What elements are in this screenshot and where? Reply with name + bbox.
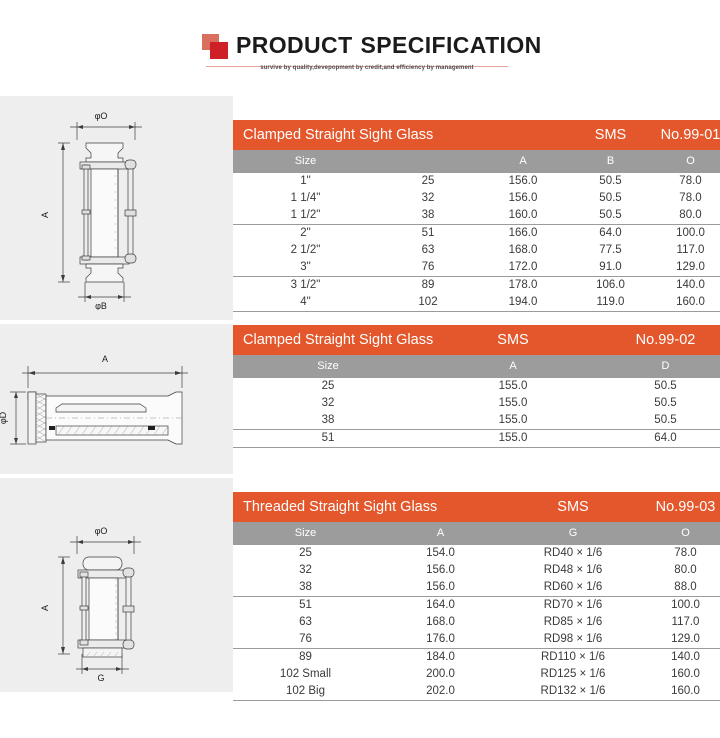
table-3-col-a: A: [378, 522, 503, 544]
cell-dn: 25: [378, 172, 478, 190]
cell-g: RD85 × 1/6: [503, 614, 643, 631]
table-row: 76 176.0 RD98 × 1/6 129.0: [233, 631, 720, 649]
cell-a: 164.0: [378, 596, 503, 614]
cell-o: 160.0: [643, 666, 720, 683]
table-row: 2 1/2" 63 168.0 77.5 117.0: [233, 242, 720, 259]
table-1-col-a: A: [478, 150, 568, 172]
cell-o: 88.0: [643, 579, 720, 597]
table-row: 3 1/2" 89 178.0 106.0 140.0: [233, 276, 720, 294]
table-row: 63 168.0 RD85 × 1/6 117.0: [233, 614, 720, 631]
table-1-standard: SMS: [568, 120, 653, 150]
cell-g: RD70 × 1/6: [503, 596, 643, 614]
cell-b: 106.0: [568, 276, 653, 294]
cell-dn: 89: [378, 276, 478, 294]
cell-size: 38: [233, 579, 378, 597]
cell-a: 194.0: [478, 294, 568, 312]
cell-a: 178.0: [478, 276, 568, 294]
dimension-label-left: φD: [0, 411, 8, 424]
cell-a: 156.0: [478, 172, 568, 190]
dimension-label-bottom: φB: [95, 301, 107, 310]
logo-square-dark: [210, 42, 228, 59]
cell-size: 1": [233, 172, 378, 190]
page-title-main: PRODUCT: [236, 32, 353, 58]
table-3-header-row: Size A G O: [233, 522, 720, 544]
cell-g: RD125 × 1/6: [503, 666, 643, 683]
cell-a: 156.0: [478, 190, 568, 207]
table-2-header-row: Size A D: [233, 355, 720, 377]
dimension-label-left: A: [40, 212, 50, 218]
table-3-col-o: O: [643, 522, 720, 544]
table-row: 51 164.0 RD70 × 1/6 100.0: [233, 596, 720, 614]
cell-b: 119.0: [568, 294, 653, 312]
cell-size: 3": [233, 259, 378, 277]
cell-d: 50.5: [603, 395, 720, 412]
cell-size: 38: [233, 412, 423, 430]
cell-o: 80.0: [653, 207, 720, 225]
cell-o: 129.0: [643, 631, 720, 649]
spec-table-2-block: Clamped Straight Sight Glass SMS No.99-0…: [233, 325, 720, 448]
table-2-title: Clamped Straight Sight Glass: [233, 325, 423, 355]
cell-o: 78.0: [653, 190, 720, 207]
cell-a: 156.0: [378, 579, 503, 597]
cell-a: 200.0: [378, 666, 503, 683]
cell-size: 3 1/2": [233, 276, 378, 294]
table-row: 38 155.0 50.5: [233, 412, 720, 430]
table-3-title: Threaded Straight Sight Glass: [233, 492, 503, 522]
cell-d: 50.5: [603, 377, 720, 395]
table-3-col-g: G: [503, 522, 643, 544]
cell-a: 155.0: [423, 395, 603, 412]
spec-table-2: Clamped Straight Sight Glass SMS No.99-0…: [233, 325, 720, 448]
page-title-sub: SPECIFICATION: [361, 32, 542, 58]
table-row: 32 155.0 50.5: [233, 395, 720, 412]
table-3-code: No.99-03: [643, 492, 720, 522]
cell-size: 4": [233, 294, 378, 312]
cell-o: 78.0: [653, 172, 720, 190]
document-header: PRODUCTSPECIFICATION survive by quality,…: [0, 0, 720, 95]
cell-d: 50.5: [603, 412, 720, 430]
table-1-title-row: Clamped Straight Sight Glass SMS No.99-0…: [233, 120, 720, 150]
table-2-code: No.99-02: [603, 325, 720, 355]
table-row: 102 Big 202.0 RD132 × 1/6 160.0: [233, 683, 720, 701]
cell-o: 140.0: [653, 276, 720, 294]
cell-dn: 51: [378, 224, 478, 242]
cell-b: 50.5: [568, 207, 653, 225]
cell-a: 172.0: [478, 259, 568, 277]
cell-a: 155.0: [423, 412, 603, 430]
cell-a: 168.0: [478, 242, 568, 259]
cell-size: 63: [233, 614, 378, 631]
dimension-label-top: A: [102, 354, 108, 364]
table-row: 38 156.0 RD60 × 1/6 88.0: [233, 579, 720, 597]
cell-a: 184.0: [378, 648, 503, 666]
clamped-straight-sight-glass-horizontal-drawing: A φD: [0, 348, 233, 458]
table-2-col-d: D: [603, 355, 720, 377]
table-1-col-size: Size: [233, 150, 378, 172]
cell-a: 154.0: [378, 544, 503, 562]
dimension-label-top: φO: [95, 111, 108, 121]
table-2-col-a: A: [423, 355, 603, 377]
table-row: 89 184.0 RD110 × 1/6 140.0: [233, 648, 720, 666]
dimension-label-bottom: G: [97, 673, 104, 681]
cell-size: 51: [233, 429, 423, 447]
table-1-col-o: O: [653, 150, 720, 172]
company-tagline: survive by quality,devepopment by credit…: [252, 65, 482, 71]
cell-size: 2": [233, 224, 378, 242]
threaded-straight-sight-glass-vertical-drawing: φO A G: [0, 526, 233, 681]
cell-dn: 76: [378, 259, 478, 277]
cell-g: RD132 × 1/6: [503, 683, 643, 701]
table-2-title-row: Clamped Straight Sight Glass SMS No.99-0…: [233, 325, 720, 355]
table-1-col-blank: [378, 150, 478, 172]
cell-o: 80.0: [643, 562, 720, 579]
cell-a: 166.0: [478, 224, 568, 242]
cell-b: 50.5: [568, 190, 653, 207]
table-2-col-size: Size: [233, 355, 423, 377]
cell-b: 77.5: [568, 242, 653, 259]
cell-a: 202.0: [378, 683, 503, 701]
cell-b: 50.5: [568, 172, 653, 190]
cell-o: 117.0: [643, 614, 720, 631]
cell-dn: 32: [378, 190, 478, 207]
cell-o: 140.0: [643, 648, 720, 666]
table-row: 1" 25 156.0 50.5 78.0: [233, 172, 720, 190]
table-row: 51 155.0 64.0: [233, 429, 720, 447]
cell-o: 100.0: [643, 596, 720, 614]
cell-a: 155.0: [423, 377, 603, 395]
cell-g: RD110 × 1/6: [503, 648, 643, 666]
table-row: 25 155.0 50.5: [233, 377, 720, 395]
cell-size: 1 1/2": [233, 207, 378, 225]
cell-o: 117.0: [653, 242, 720, 259]
table-row: 102 Small 200.0 RD125 × 1/6 160.0: [233, 666, 720, 683]
page-title: PRODUCTSPECIFICATION: [236, 30, 526, 60]
cell-o: 160.0: [653, 294, 720, 312]
table-row: 3" 76 172.0 91.0 129.0: [233, 259, 720, 277]
cell-size: 32: [233, 562, 378, 579]
table-1-title: Clamped Straight Sight Glass: [233, 120, 568, 150]
drawing-band-2: A φD: [0, 324, 233, 474]
clamped-straight-sight-glass-vertical-drawing: φO A φB: [0, 110, 233, 310]
cell-o: 160.0: [643, 683, 720, 701]
table-3-standard: SMS: [503, 492, 643, 522]
cell-a: 176.0: [378, 631, 503, 649]
cell-a: 160.0: [478, 207, 568, 225]
dimension-label-left: A: [40, 605, 50, 611]
table-1-header-row: Size A B O: [233, 150, 720, 172]
table-row: 1 1/2" 38 160.0 50.5 80.0: [233, 207, 720, 225]
cell-size: 89: [233, 648, 378, 666]
cell-a: 156.0: [378, 562, 503, 579]
cell-g: RD60 × 1/6: [503, 579, 643, 597]
cell-size: 25: [233, 544, 378, 562]
cell-size: 51: [233, 596, 378, 614]
product-specification-page: PRODUCTSPECIFICATION survive by quality,…: [0, 0, 720, 738]
cell-size: 2 1/2": [233, 242, 378, 259]
cell-g: RD40 × 1/6: [503, 544, 643, 562]
cell-dn: 63: [378, 242, 478, 259]
cell-size: 32: [233, 395, 423, 412]
cell-a: 168.0: [378, 614, 503, 631]
cell-dn: 102: [378, 294, 478, 312]
drawing-band-3: φO A G: [0, 478, 233, 692]
cell-g: RD48 × 1/6: [503, 562, 643, 579]
table-1-code: No.99-01: [653, 120, 720, 150]
table-row: 4" 102 194.0 119.0 160.0: [233, 294, 720, 312]
cell-o: 129.0: [653, 259, 720, 277]
table-3-col-size: Size: [233, 522, 378, 544]
spec-table-1: Clamped Straight Sight Glass SMS No.99-0…: [233, 120, 720, 312]
spec-table-3-block: Threaded Straight Sight Glass SMS No.99-…: [233, 492, 720, 701]
cell-size: 1 1/4": [233, 190, 378, 207]
table-2-standard: SMS: [423, 325, 603, 355]
cell-size: 102 Small: [233, 666, 378, 683]
table-row: 2" 51 166.0 64.0 100.0: [233, 224, 720, 242]
table-1-col-b: B: [568, 150, 653, 172]
spec-table-1-block: Clamped Straight Sight Glass SMS No.99-0…: [233, 120, 720, 312]
cell-b: 64.0: [568, 224, 653, 242]
cell-size: 25: [233, 377, 423, 395]
drawing-band-1: φO A φB: [0, 96, 233, 320]
table-row: 32 156.0 RD48 × 1/6 80.0: [233, 562, 720, 579]
table-row: 1 1/4" 32 156.0 50.5 78.0: [233, 190, 720, 207]
cell-g: RD98 × 1/6: [503, 631, 643, 649]
cell-b: 91.0: [568, 259, 653, 277]
table-3-title-row: Threaded Straight Sight Glass SMS No.99-…: [233, 492, 720, 522]
dimension-label-top: φO: [95, 526, 108, 536]
spec-table-3: Threaded Straight Sight Glass SMS No.99-…: [233, 492, 720, 701]
company-logo: [202, 34, 232, 60]
cell-d: 64.0: [603, 429, 720, 447]
table-row: 25 154.0 RD40 × 1/6 78.0: [233, 544, 720, 562]
cell-size: 76: [233, 631, 378, 649]
cell-size: 102 Big: [233, 683, 378, 701]
cell-o: 100.0: [653, 224, 720, 242]
cell-dn: 38: [378, 207, 478, 225]
cell-a: 155.0: [423, 429, 603, 447]
cell-o: 78.0: [643, 544, 720, 562]
